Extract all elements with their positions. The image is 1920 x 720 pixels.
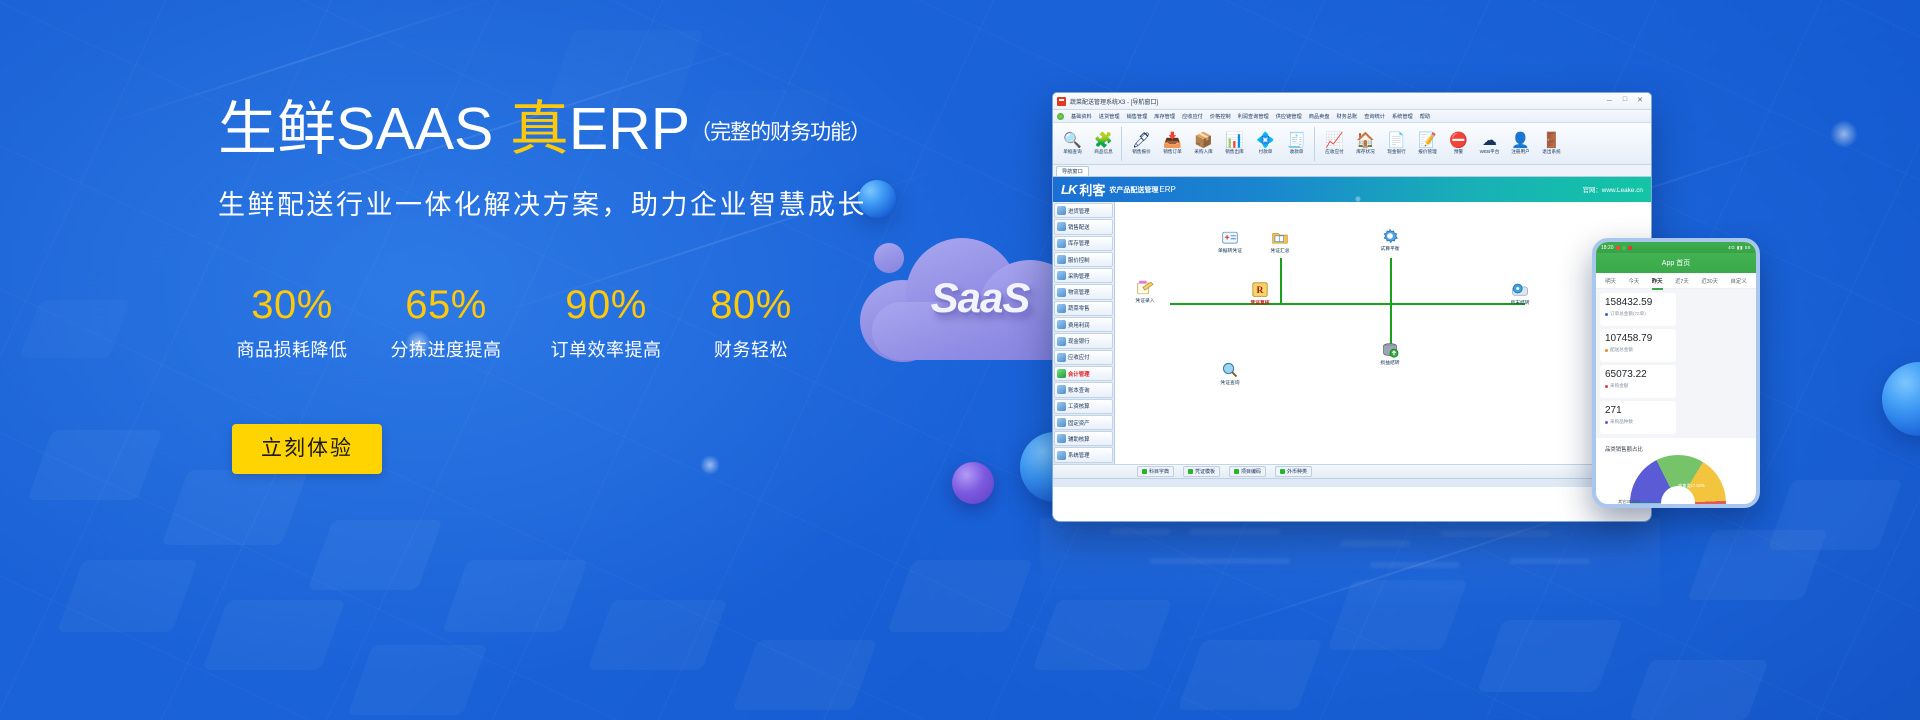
erp-window[interactable]: 蔬菜配送管理系统X3 - [导航窗口] － □ ✕ 基础资料 进货管理 销售管理…: [1052, 92, 1652, 522]
brand-name: 利客: [1079, 180, 1105, 199]
toolbar-button[interactable]: 🔍单据查询: [1057, 132, 1088, 155]
price-icon: 📝: [1412, 132, 1443, 149]
decorative-sphere-purple: [952, 462, 994, 504]
sidebar-item-assets[interactable]: 固定资产: [1054, 415, 1113, 430]
sidebar-item-label: 现金银行: [1068, 337, 1090, 345]
tab-30days[interactable]: 近30天: [1701, 277, 1718, 285]
sidebar-item-system[interactable]: 系统管理: [1054, 447, 1113, 462]
workflow-node-voucher-search[interactable]: 凭证查询: [1210, 362, 1250, 386]
stat-card-value: 107458.79: [1605, 333, 1671, 344]
workflow-label: 凭证复核: [1250, 301, 1269, 306]
erp-tab-strip[interactable]: 导航窗口: [1053, 165, 1651, 177]
stat-card-delivery-total[interactable]: 107458.79 配送总金额: [1600, 329, 1676, 362]
toolbar-label: 销售出库: [1225, 149, 1243, 154]
menu-item[interactable]: 库存管理: [1154, 113, 1175, 120]
tab-today[interactable]: 今天: [1629, 277, 1640, 285]
month-end-icon: [1511, 282, 1529, 298]
sidebar-item-accounting[interactable]: 会计管理: [1054, 366, 1113, 381]
workflow-label: 凭证录入: [1135, 299, 1154, 304]
price-control-icon: [1057, 255, 1066, 264]
goods-icon: 🧩: [1088, 132, 1119, 149]
stat-label: 财务轻松: [686, 336, 816, 362]
toolbar-button[interactable]: 📥销售订单: [1157, 132, 1188, 155]
aux-icon: [1057, 434, 1066, 443]
stat-card-value: 158432.59: [1605, 297, 1671, 308]
stat-card-label: 配送总金额: [1605, 347, 1671, 353]
sidebar-item-inventory[interactable]: 库存管理: [1054, 236, 1113, 251]
toolbar-divider: [1121, 127, 1124, 161]
toolbar-label: 库存状况: [1356, 149, 1374, 154]
erp-brand-banner: LK 利客 农产品配送管理 ERP 官网：www.Leake.cn: [1053, 177, 1651, 202]
toolbar-button[interactable]: 🧩商品信息: [1088, 132, 1119, 155]
erp-workflow-canvas: 凭证录入 单据转凭证 R 凭证复核 凭证汇总 试算平衡 月末结转: [1115, 202, 1651, 464]
stat-item: 80% 财务轻松: [686, 284, 816, 362]
erp-toolbar[interactable]: 🔍单据查询 🧩商品信息 🖊销售报价 📥销售订单 📦采购入库 📊销售出库 💠付款单…: [1053, 123, 1651, 165]
sidebar-item-label: 应收应付: [1068, 353, 1090, 361]
stat-value: 80%: [686, 284, 816, 326]
hero-copy: 生鲜SAAS 真ERP（完整的财务功能） 生鲜配送行业一体化解决方案，助力企业智…: [218, 100, 858, 474]
magnifier-icon: 🔍: [1057, 132, 1088, 149]
notification-icon: [1622, 246, 1626, 250]
stat-card-order-total[interactable]: 158432.59 订单总金额(72单): [1600, 293, 1676, 326]
toolbar-divider: [1314, 127, 1317, 161]
stat-value: 30%: [218, 284, 366, 326]
square-icon: [1142, 469, 1147, 474]
toolbar-label: 预警: [1454, 149, 1463, 154]
brand-website: 官网：www.Leake.cn: [1583, 185, 1643, 194]
sidebar-item-label: 库存管理: [1068, 239, 1090, 247]
profit-loss-icon: [1381, 342, 1399, 358]
workflow-line-summary: [1280, 258, 1282, 304]
toolbar-button[interactable]: 🚪退出系统: [1536, 132, 1567, 155]
tab-navigation-window[interactable]: 导航窗口: [1056, 166, 1089, 176]
toolbar-label: 报价管理: [1418, 149, 1436, 154]
order-icon: 📥: [1157, 132, 1188, 149]
menu-item[interactable]: 系统管理: [1392, 113, 1413, 120]
menu-item[interactable]: 查询统计: [1364, 113, 1385, 120]
sidebar-item-payroll[interactable]: 工资核算: [1054, 399, 1113, 414]
category-sales-chart: 品类销售额占比 肉禽类17.52% 新鲜蔬菜16.2% 大米粮油15.54% 草…: [1600, 441, 1752, 508]
voucher-search-icon: [1221, 362, 1239, 378]
workflow-label: 月末结转: [1510, 301, 1529, 306]
slice-label-meat: 肉禽类17.52%: [1678, 483, 1705, 489]
notification-icon: [1616, 246, 1620, 250]
workflow-line-horizontal: [1170, 303, 1525, 305]
trial-balance-icon: [1381, 228, 1399, 244]
system-icon: [1057, 451, 1066, 460]
erp-menu-bar[interactable]: 基础资料 进货管理 销售管理 库存管理 应收应付 价格控制 利润查询管理 供应链…: [1053, 110, 1651, 123]
bank-icon: 📄: [1381, 132, 1412, 149]
tab-custom[interactable]: 自定义: [1731, 277, 1747, 285]
headline-parenthetical: （完整的财务功能）: [690, 121, 870, 144]
erp-status-bar: [1053, 478, 1651, 487]
tab-tomorrow[interactable]: 明天: [1605, 277, 1616, 285]
voucher-entry-icon: [1136, 280, 1154, 296]
toolbar-button[interactable]: 📦采购入库: [1188, 132, 1219, 155]
quote-icon: 🖊: [1126, 132, 1157, 149]
stat-value: 90%: [526, 284, 686, 326]
toolbar-button[interactable]: 💠付款单: [1250, 132, 1281, 155]
stat-label: 订单效率提高: [526, 336, 686, 362]
toolbar-label: 付款单: [1259, 149, 1273, 154]
stat-value: 65%: [366, 284, 526, 326]
sidebar-item-aux[interactable]: 辅助核算: [1054, 431, 1113, 446]
cloud-label: SaaS: [860, 274, 1100, 322]
notification-icon: [1628, 246, 1632, 250]
phone-stat-cards: 158432.59 订单总金额(72单) 107458.79 配送总金额 650…: [1596, 289, 1756, 438]
workflow-node-trial-balance[interactable]: 试算平衡: [1370, 228, 1410, 252]
workflow-node-month-end[interactable]: 月末结转: [1500, 282, 1540, 306]
receipt-icon: 🧾: [1281, 132, 1312, 149]
menu-item[interactable]: 价格控制: [1210, 113, 1231, 120]
toolbar-button[interactable]: 📈应收应付: [1319, 132, 1350, 155]
stock-icon: 🏠: [1350, 132, 1381, 149]
stats-row: 30% 商品损耗降低 65% 分拣进度提高 90% 订单效率提高 80% 财务轻…: [218, 284, 858, 362]
footer-button-project-code[interactable]: 项目编码: [1229, 466, 1266, 477]
brand-logo-icon: LK: [1061, 182, 1076, 197]
status-time: 18:20: [1601, 245, 1614, 251]
toolbar-button[interactable]: 🧾收款单: [1281, 132, 1312, 155]
menu-item[interactable]: 应收应付: [1182, 113, 1203, 120]
erp-footer-toolbar[interactable]: 科目字典 凭证模板 项目编码 外币种类: [1053, 464, 1651, 478]
headline-part1: 生鲜SAAS: [218, 96, 510, 162]
footer-button-label: 项目编码: [1241, 468, 1261, 475]
workflow-node-voucher-summary[interactable]: 凭证汇总: [1260, 230, 1300, 254]
web-icon: ☁: [1474, 132, 1505, 149]
sidebar-item-label: 固定资产: [1068, 419, 1090, 427]
minimize-icon[interactable]: －: [1606, 96, 1613, 106]
menu-item[interactable]: 供应链管理: [1276, 113, 1302, 120]
ar-ap-icon: 📈: [1319, 132, 1350, 149]
stat-label: 商品损耗降低: [218, 336, 366, 362]
phone-app-header: App 首页: [1596, 253, 1756, 273]
toolbar-button[interactable]: ☁WEB平台: [1474, 132, 1505, 155]
headline-part2: ERP: [569, 96, 690, 162]
workflow-label: 试算平衡: [1380, 247, 1399, 252]
mobile-app-preview[interactable]: 18:20 4G ▮▮ 56 App 首页 明天 今天 昨天 近7天 近30天 …: [1592, 238, 1760, 508]
footer-button-voucher-template[interactable]: 凭证模板: [1183, 466, 1220, 477]
workflow-line-profit: [1390, 303, 1392, 345]
status-indicators: 4G ▮▮ 56: [1728, 245, 1751, 251]
square-icon: [1280, 469, 1285, 474]
toolbar-button[interactable]: 🖊销售报价: [1126, 132, 1157, 155]
donut-chart: [1630, 455, 1726, 508]
dot-icon: [1605, 385, 1608, 388]
workflow-node-voucher-review[interactable]: R 凭证复核: [1240, 282, 1280, 306]
dot-icon: [1605, 349, 1608, 352]
alert-icon: ⛔: [1443, 132, 1474, 149]
page-subtitle: 生鲜配送行业一体化解决方案，助力企业智慧成长: [218, 183, 858, 222]
footer-button-label: 凭证模板: [1195, 468, 1215, 475]
dot-icon: [1605, 421, 1608, 424]
tab-yesterday[interactable]: 昨天: [1652, 277, 1663, 285]
toolbar-label: 单据查询: [1063, 149, 1081, 154]
toolbar-label: 退出系统: [1542, 149, 1560, 154]
menu-item[interactable]: 财务总账: [1336, 113, 1357, 120]
page-title: 生鲜SAAS 真ERP（完整的财务功能）: [218, 100, 858, 159]
sidebar-item-label: 服价控制: [1068, 256, 1090, 264]
stat-card-label: 订单总金额(72单): [1605, 311, 1671, 317]
toolbar-label: 销售订单: [1163, 149, 1181, 154]
square-icon: [1234, 469, 1239, 474]
workflow-label: 单据转凭证: [1218, 249, 1242, 254]
sidebar-item-label: 系统管理: [1068, 451, 1090, 459]
phone-status-bar: 18:20 4G ▮▮ 56: [1596, 242, 1756, 253]
toolbar-label: 商品信息: [1094, 149, 1112, 154]
menu-item[interactable]: 利润查询管理: [1238, 113, 1269, 120]
workflow-label: 损益结转: [1380, 361, 1399, 366]
toolbar-label: 收款单: [1290, 149, 1304, 154]
app-icon: [1057, 97, 1066, 106]
workflow-node-profit-loss[interactable]: 损益结转: [1370, 342, 1410, 366]
chart-title: 品类销售额占比: [1605, 445, 1747, 453]
sidebar-item-cash[interactable]: 现金银行: [1054, 333, 1113, 348]
close-icon[interactable]: ✕: [1637, 96, 1643, 106]
stat-card-purchase-variety[interactable]: 271 采购品种数: [1600, 401, 1676, 434]
try-now-button[interactable]: 立刻体验: [232, 424, 382, 474]
stat-card-label: 采购品种数: [1605, 419, 1671, 425]
sidebar-item-label: 会计管理: [1068, 370, 1090, 378]
toolbar-button[interactable]: ⛔预警: [1443, 132, 1474, 155]
stat-label: 分拣进度提高: [366, 336, 526, 362]
tab-7days[interactable]: 近7天: [1675, 277, 1689, 285]
workflow-label: 凭证汇总: [1270, 249, 1289, 254]
exit-icon: 🚪: [1536, 132, 1567, 149]
workflow-node-voucher-entry[interactable]: 凭证录入: [1125, 280, 1165, 304]
stat-card-value: 271: [1605, 405, 1671, 416]
stat-card-purchase-amount[interactable]: 65073.22 采购金额: [1600, 365, 1676, 398]
cash-icon: [1057, 337, 1066, 346]
inventory-icon: [1057, 239, 1066, 248]
svg-text:R: R: [1257, 285, 1265, 296]
menu-item[interactable]: 进货管理: [1099, 113, 1120, 120]
toolbar-button[interactable]: 👤注册用户: [1505, 132, 1536, 155]
toolbar-label: 注册用户: [1511, 149, 1529, 154]
toolbar-label: 应收应付: [1325, 149, 1343, 154]
footer-button-label: 科目字典: [1149, 468, 1169, 475]
phone-header-title: App 首页: [1662, 258, 1690, 268]
sidebar-item-sales[interactable]: 销售配送: [1054, 219, 1113, 234]
stat-item: 65% 分拣进度提高: [366, 284, 526, 362]
footer-button-label: 外币种类: [1287, 468, 1307, 475]
assets-icon: [1057, 418, 1066, 427]
footer-button-currency[interactable]: 外币种类: [1275, 466, 1312, 477]
headline-highlight: 真: [510, 96, 569, 162]
brand-erp-label: ERP: [1159, 185, 1175, 194]
sidebar-item-label: 辅助核算: [1068, 435, 1090, 443]
footer-button-subject-dict[interactable]: 科目字典: [1137, 466, 1174, 477]
voucher-review-icon: R: [1251, 282, 1269, 298]
stat-card-value: 65073.22: [1605, 369, 1671, 380]
window-controls[interactable]: － □ ✕: [1606, 96, 1647, 106]
ar-ap-icon: [1057, 353, 1066, 362]
phone-tab-bar[interactable]: 明天 今天 昨天 近7天 近30天 自定义: [1596, 273, 1756, 289]
menu-item[interactable]: 销售管理: [1127, 113, 1148, 120]
stat-item: 30% 商品损耗降低: [218, 284, 366, 362]
payroll-icon: [1057, 402, 1066, 411]
erp-window-title: 蔬菜配送管理系统X3 - [导航窗口]: [1070, 97, 1158, 106]
sidebar-item-label: 工资核算: [1068, 402, 1090, 410]
sidebar-item-label: 进货管理: [1068, 207, 1090, 215]
payment-icon: 💠: [1250, 132, 1281, 149]
toolbar-label: 销售报价: [1132, 149, 1150, 154]
doc-to-voucher-icon: [1221, 230, 1239, 246]
ledger-icon: [1057, 385, 1066, 394]
stat-card-label: 采购金额: [1605, 383, 1671, 389]
menu-item[interactable]: 基础资料: [1071, 113, 1092, 120]
toolbar-button[interactable]: 📝报价管理: [1412, 132, 1443, 155]
sidebar-item-purchase[interactable]: 进货管理: [1054, 203, 1113, 218]
toolbar-label: WEB平台: [1480, 149, 1500, 154]
workflow-node-doc-to-voucher[interactable]: 单据转凭证: [1210, 230, 1250, 254]
slice-label-other: 其它35.28%: [1618, 499, 1641, 505]
erp-sidebar[interactable]: 进货管理 销售配送 库存管理 服价控制 采购管理 物流管理 蔬菜零售 费用利润 …: [1053, 202, 1115, 464]
erp-title-bar: 蔬菜配送管理系统X3 - [导航窗口] － □ ✕: [1053, 93, 1651, 110]
menu-item[interactable]: 商品卖盘: [1309, 113, 1330, 120]
dot-icon: [1605, 313, 1608, 316]
toolbar-label: 现金银行: [1387, 149, 1405, 154]
user-icon: 👤: [1505, 132, 1536, 149]
workflow-label: 凭证查询: [1220, 381, 1239, 386]
inbound-icon: 📦: [1188, 132, 1219, 149]
sidebar-item-label: 销售配送: [1068, 223, 1090, 231]
maximize-icon[interactable]: □: [1623, 96, 1627, 106]
voucher-summary-icon: [1271, 230, 1289, 246]
outbound-icon: 📊: [1219, 132, 1250, 149]
menu-item[interactable]: 帮助: [1420, 113, 1430, 120]
stat-item: 90% 订单效率提高: [526, 284, 686, 362]
sidebar-item-price[interactable]: 服价控制: [1054, 252, 1113, 267]
sidebar-item-ledger[interactable]: 账本查询: [1054, 382, 1113, 397]
sales-icon: [1057, 222, 1066, 231]
accounting-icon: [1057, 369, 1066, 378]
sidebar-item-label: 账本查询: [1068, 386, 1090, 394]
toolbar-button[interactable]: 🏠库存状况: [1350, 132, 1381, 155]
workflow-line-trial: [1390, 258, 1392, 304]
home-icon: [1057, 113, 1064, 120]
toolbar-button[interactable]: 📄现金银行: [1381, 132, 1412, 155]
square-icon: [1188, 469, 1193, 474]
toolbar-label: 采购入库: [1194, 149, 1212, 154]
sidebar-item-ar-ap[interactable]: 应收应付: [1054, 350, 1113, 365]
brand-tagline: 农产品配送管理: [1109, 185, 1158, 195]
erp-body: 进货管理 销售配送 库存管理 服价控制 采购管理 物流管理 蔬菜零售 费用利润 …: [1053, 202, 1651, 464]
toolbar-button[interactable]: 📊销售出库: [1219, 132, 1250, 155]
purchase-icon: [1057, 206, 1066, 215]
